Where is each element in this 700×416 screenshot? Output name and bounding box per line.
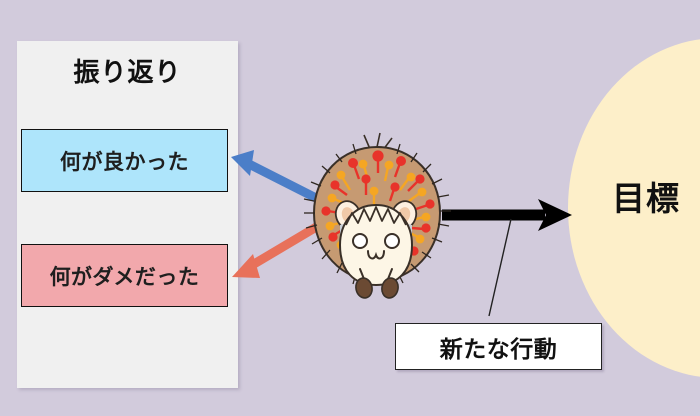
positive-reflection-chip[interactable]: 何が良かった — [21, 129, 228, 192]
new-action-box[interactable]: 新たな行動 — [395, 323, 602, 370]
diagram-canvas: 振り返り 何が良かった 何がダメだった 目標 新たな行動 — [0, 0, 700, 416]
reflection-panel-title: 振り返り — [17, 52, 238, 89]
negative-reflection-label: 何がダメだった — [50, 261, 200, 291]
positive-reflection-label: 何が良かった — [60, 146, 189, 176]
new-action-label: 新たな行動 — [440, 330, 558, 364]
negative-reflection-chip[interactable]: 何がダメだった — [21, 244, 228, 307]
